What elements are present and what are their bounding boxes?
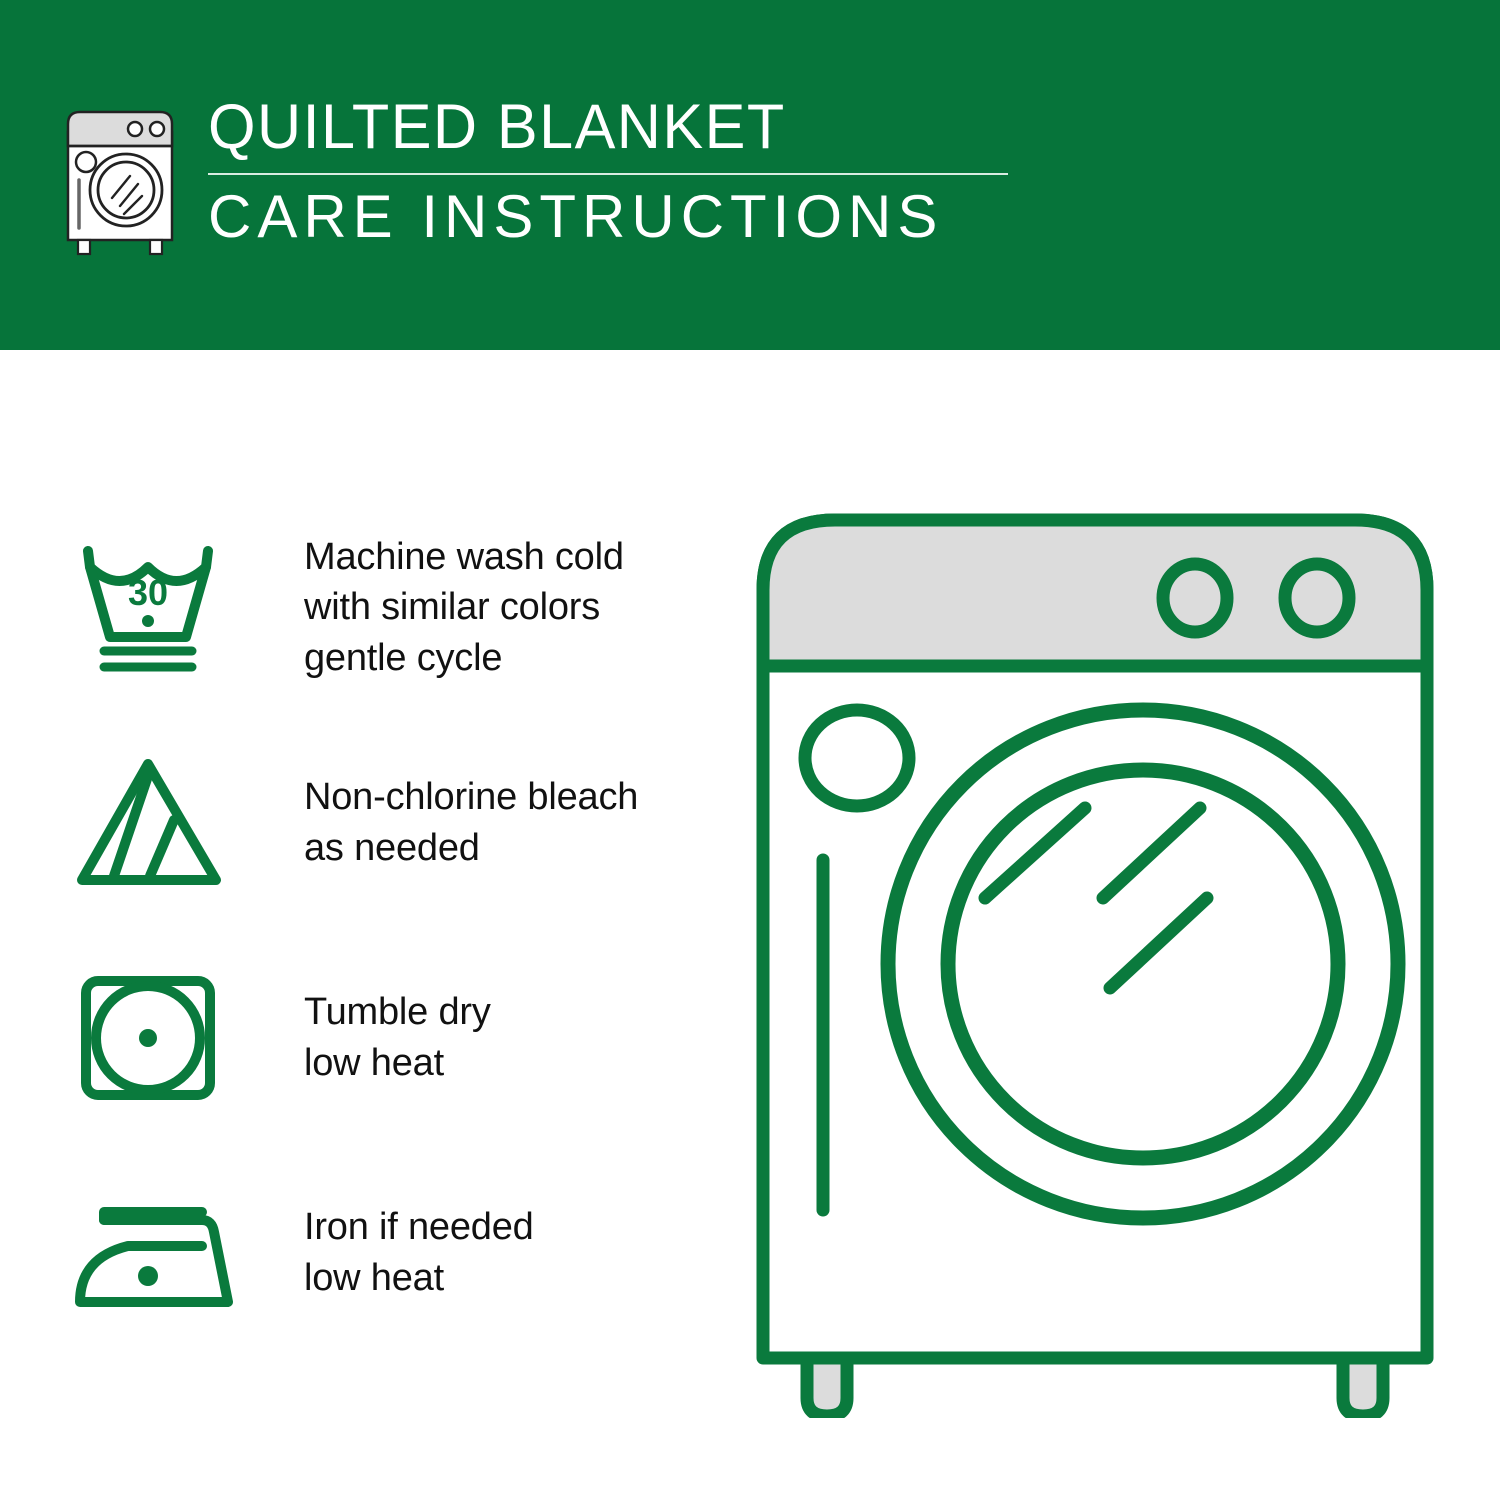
- machine-leg-right: [1343, 1358, 1383, 1416]
- non-chlorine-bleach-triangle-icon: [70, 748, 242, 898]
- care-label-tumble-dry: Tumble dry low heat: [304, 987, 491, 1087]
- care-label-wash: Machine wash cold with similar colors ge…: [304, 532, 624, 682]
- control-knob-right[interactable]: [1285, 564, 1349, 632]
- page-title: QUILTED BLANKET: [208, 96, 984, 159]
- machine-leg-left: [807, 1358, 847, 1416]
- care-label-line: with similar colors: [304, 582, 624, 632]
- detergent-dispenser: [805, 710, 909, 806]
- care-instruction-list: 30 Machine wash cold with similar colors…: [70, 500, 710, 1360]
- washing-machine-icon: [62, 102, 180, 262]
- care-label-line: Iron if needed: [304, 1202, 534, 1252]
- wash-tub-30-gentle-icon: 30: [70, 533, 242, 683]
- iron-low-heat-icon: [70, 1178, 242, 1328]
- front-load-washing-machine-illustration: [745, 498, 1445, 1418]
- care-label-line: Non-chlorine bleach: [304, 772, 638, 822]
- header-banner: QUILTED BLANKET CARE INSTRUCTIONS: [0, 0, 1500, 350]
- care-label-line: Tumble dry: [304, 987, 491, 1037]
- care-label-line: low heat: [304, 1253, 534, 1303]
- care-label-iron: Iron if needed low heat: [304, 1202, 534, 1302]
- page-subtitle: CARE INSTRUCTIONS: [208, 185, 1008, 248]
- care-label-line: as needed: [304, 823, 638, 873]
- care-row-iron: Iron if needed low heat: [70, 1145, 710, 1360]
- title-divider: [208, 173, 1008, 175]
- svg-text:30: 30: [128, 572, 168, 613]
- care-row-wash: 30 Machine wash cold with similar colors…: [70, 500, 710, 715]
- care-row-bleach: Non-chlorine bleach as needed: [70, 715, 710, 930]
- care-label-line: Machine wash cold: [304, 532, 624, 582]
- care-label-line: gentle cycle: [304, 633, 624, 683]
- care-label-line: low heat: [304, 1038, 491, 1088]
- care-label-bleach: Non-chlorine bleach as needed: [304, 772, 638, 872]
- care-row-tumble-dry: Tumble dry low heat: [70, 930, 710, 1145]
- header-title-block: QUILTED BLANKET CARE INSTRUCTIONS: [208, 96, 1008, 248]
- care-instructions-page: QUILTED BLANKET CARE INSTRUCTIONS 30: [0, 0, 1500, 1500]
- header-content: QUILTED BLANKET CARE INSTRUCTIONS: [62, 96, 1008, 262]
- control-knob-left[interactable]: [1163, 564, 1227, 632]
- tumble-dry-low-icon: [70, 963, 242, 1113]
